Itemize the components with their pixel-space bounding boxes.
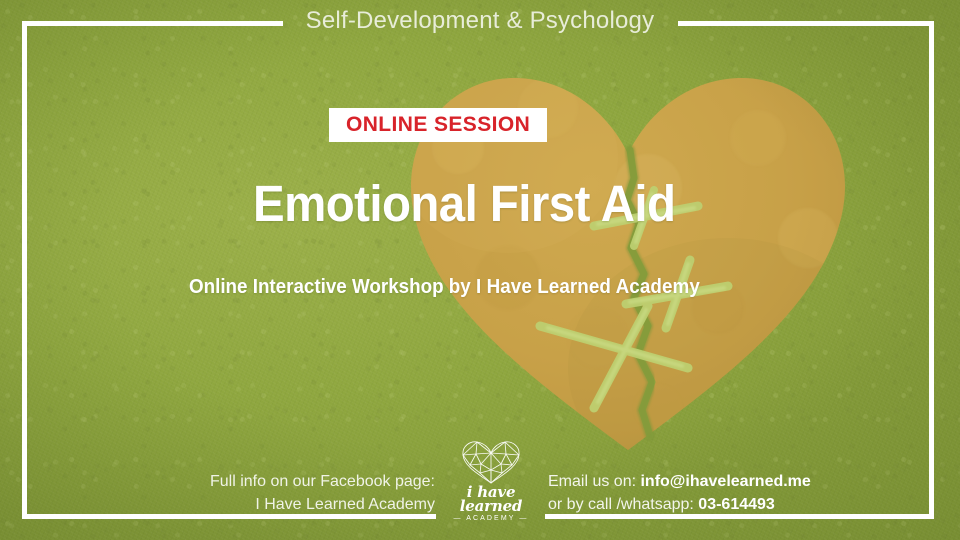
footer-email-line: Email us on: info@ihavelearned.me — [548, 470, 811, 493]
subtitle: Online Interactive Workshop by I Have Le… — [189, 277, 700, 297]
subtitle-prefix: Online Interactive Workshop by — [189, 276, 476, 298]
footer-facebook-line1: Full info on our Facebook page: — [210, 470, 435, 493]
footer-facebook-line2: I Have Learned Academy — [210, 493, 435, 516]
footer-email-value[interactable]: info@ihavelearned.me — [640, 473, 810, 490]
brand-logo: i have learned — ACADEMY — — [452, 440, 530, 532]
page-title: Emotional First Aid — [253, 178, 675, 229]
footer-phone-value[interactable]: 03-614493 — [698, 496, 775, 513]
online-session-badge: ONLINE SESSION — [329, 108, 547, 142]
polygonal-heart-brain-icon — [460, 440, 522, 484]
footer-phone-line: or by call /whatsapp: 03-614493 — [548, 493, 811, 516]
logo-wordmark: i have learned — [452, 485, 530, 513]
poster-canvas: Self-Development & Psychology ONLINE SES… — [0, 0, 960, 540]
footer-email-label: Email us on: — [548, 473, 640, 490]
footer-facebook-block: Full info on our Facebook page: I Have L… — [210, 470, 435, 516]
logo-word-line2: learned — [452, 499, 530, 513]
footer-contact-block: Email us on: info@ihavelearned.me or by … — [548, 470, 811, 516]
logo-academy-label: — ACADEMY — — [452, 515, 530, 522]
subtitle-brand: I Have Learned Academy — [476, 276, 700, 298]
category-eyebrow: Self-Development & Psychology — [0, 7, 960, 35]
frame-right-segment — [929, 21, 934, 519]
frame-left-segment — [22, 21, 27, 519]
footer-phone-label: or by call /whatsapp: — [548, 496, 698, 513]
